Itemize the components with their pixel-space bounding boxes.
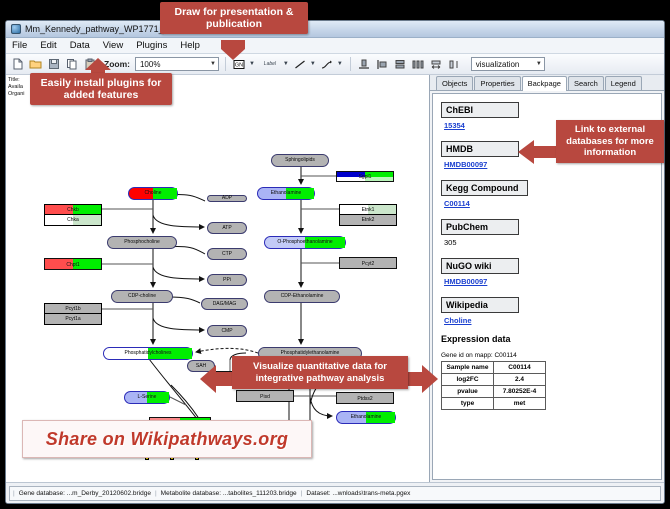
callout-visualize: Visualize quantitative data for integrat… (232, 356, 408, 389)
section-heading-nugo: NuGO wiki (441, 258, 519, 274)
copy-icon[interactable] (64, 57, 79, 72)
svg-text:GN: GN (235, 62, 243, 68)
status-divider-1: | (155, 490, 157, 497)
distribute-icon[interactable] (411, 57, 426, 72)
interaction-chevron-icon[interactable]: ▼ (337, 61, 343, 67)
table-row: log2FC 2.4 (442, 374, 546, 386)
gene-stack-pcyt1[interactable]: Pcyt1b Pcyt1a (44, 303, 102, 325)
gene-chka[interactable]: Chka (45, 215, 101, 225)
callout-visualize-arrow-left (200, 363, 236, 395)
line-icon[interactable] (293, 57, 308, 72)
tab-legend[interactable]: Legend (605, 76, 642, 90)
node-atp[interactable]: ATP (207, 222, 247, 234)
interaction-icon[interactable] (320, 57, 335, 72)
common-width-icon[interactable] (429, 57, 444, 72)
section-heading-wikipedia: Wikipedia (441, 297, 519, 313)
callout-plugins: Easily install plugins for added feature… (30, 73, 172, 105)
tab-properties[interactable]: Properties (474, 76, 520, 90)
open-file-icon[interactable] (28, 57, 43, 72)
link-nugo[interactable]: HMDB00097 (444, 277, 661, 286)
chevron-down-icon-2: ▼ (536, 61, 542, 67)
cell-value: 2.4 (494, 374, 546, 386)
section-heading-chebi: ChEBI (441, 102, 519, 118)
node-phosphocholine[interactable]: Phosphocholine (107, 236, 177, 249)
node-cdp-choline[interactable]: CDP-choline (111, 290, 173, 303)
section-heading-hmdb: HMDB (441, 141, 519, 157)
node-choline-top[interactable]: Choline (128, 187, 178, 200)
gene-sgpl1[interactable]: Sgpl1 (336, 171, 394, 182)
callout-share: Share on Wikipathways.org (22, 420, 312, 458)
status-bar: | Gene database: ...m_Derby_20120602.bri… (6, 482, 664, 503)
menu-plugins[interactable]: Plugins (134, 40, 169, 51)
table-row: Sample name C00114 (442, 362, 546, 374)
callout-link-arrow (518, 139, 560, 165)
value-pubchem: 305 (444, 238, 661, 247)
expression-table: Sample name C00114 log2FC 2.4 pvalue 7.8… (441, 361, 546, 410)
gene-pcyt1a[interactable]: Pcyt1a (45, 314, 101, 324)
zoom-value: 100% (140, 60, 160, 69)
app-icon (11, 24, 21, 34)
status-dataset: Dataset: ...wnloads\trans-meta.pgex (306, 490, 410, 497)
cell-value: met (494, 398, 546, 410)
section-heading-kegg: Kegg Compound (441, 180, 528, 196)
section-heading-pubchem: PubChem (441, 219, 519, 235)
gene-etnk1[interactable]: Etnk1 (340, 205, 396, 215)
node-cmp[interactable]: CMP (207, 325, 247, 337)
toolbar-divider-2 (350, 57, 351, 71)
tab-search[interactable]: Search (568, 76, 604, 90)
cell-key: Sample name (442, 362, 494, 374)
status-bar-inner: | Gene database: ...m_Derby_20120602.bri… (9, 486, 661, 501)
expression-data-title: Expression data (441, 334, 661, 344)
callout-link: Link to external databases for more info… (556, 120, 664, 163)
menu-file[interactable]: File (10, 40, 29, 51)
node-l-serine-left[interactable]: L-Serine (124, 391, 170, 404)
gene-etnk2[interactable]: Etnk2 (340, 215, 396, 225)
status-metabolite-database: Metabolite database: ...tabolites_111203… (161, 490, 297, 497)
cell-key: log2FC (442, 374, 494, 386)
gene-pcyt1b[interactable]: Pcyt1b (45, 304, 101, 314)
line-chevron-icon[interactable]: ▼ (310, 61, 316, 67)
common-height-icon[interactable] (447, 57, 462, 72)
zoom-combo[interactable]: 100% ▼ (135, 57, 219, 71)
callout-draw-arrow (215, 40, 255, 62)
gene-stack-etnk[interactable]: Etnk1 Etnk2 (339, 204, 397, 226)
label-icon[interactable]: Label (259, 57, 281, 72)
node-cdp-ethanolamine[interactable]: CDP-Ethanolamine (264, 290, 340, 303)
tab-objects[interactable]: Objects (436, 76, 473, 90)
gene-chkb[interactable]: Chkb (45, 205, 101, 215)
table-row: type met (442, 398, 546, 410)
cell-key: pvalue (442, 386, 494, 398)
node-ethanolamine-top[interactable]: Ethanolamine (257, 187, 315, 200)
node-o-phosphoethanolamine[interactable]: O-Phosphoethanolamine (264, 236, 346, 249)
status-divider-2: | (301, 490, 303, 497)
gene-pcyt2[interactable]: Pcyt2 (339, 257, 397, 269)
save-file-icon[interactable] (46, 57, 61, 72)
table-row: pvalue 7.80252E-4 (442, 386, 546, 398)
new-file-icon[interactable] (10, 57, 25, 72)
link-kegg[interactable]: C00114 (444, 199, 661, 208)
gene-id-line: Gene id on mapp: C00114 (441, 352, 661, 359)
menu-bar: File Edit Data View Plugins Help (6, 38, 664, 54)
node-dag-mag[interactable]: DAG/MAG (201, 298, 248, 310)
cell-value: 7.80252E-4 (494, 386, 546, 398)
node-ctp[interactable]: CTP (207, 248, 247, 260)
gene-chpt1[interactable]: Chpt1 (44, 258, 102, 270)
menu-view[interactable]: View (101, 40, 125, 51)
node-phosphatidylcholines[interactable]: Phosphatidylcholines (103, 347, 193, 360)
node-sphingolipids[interactable]: Sphingolipids (271, 154, 329, 167)
cell-key: type (442, 398, 494, 410)
cell-value: C00114 (494, 362, 546, 374)
visualization-combo[interactable]: visualization ▼ (471, 57, 545, 71)
stack-icon[interactable] (393, 57, 408, 72)
tab-backpage[interactable]: Backpage (522, 76, 567, 91)
node-adp[interactable]: ADP (207, 195, 247, 202)
label-chevron-icon[interactable]: ▼ (283, 61, 289, 67)
node-ethanolamine-bottom[interactable]: Ethanolamine (336, 411, 396, 424)
status-gene-database: Gene database: ...m_Derby_20120602.bridg… (19, 490, 151, 497)
gene-stack-chk[interactable]: Chkb Chka (44, 204, 102, 226)
gene-ptdss2[interactable]: Ptdss2 (336, 392, 394, 404)
callout-draw: Draw for presentation & publication (160, 2, 308, 34)
menu-help[interactable]: Help (178, 40, 202, 51)
gene-pisd[interactable]: Pisd (236, 390, 294, 402)
status-divider-0: | (13, 490, 15, 497)
callout-visualize-arrow-right (404, 363, 438, 395)
node-ppi[interactable]: PPi (207, 274, 247, 286)
side-panel-tabs: Objects Properties Backpage Search Legen… (430, 75, 664, 91)
menu-edit[interactable]: Edit (38, 40, 58, 51)
align-bottom-icon[interactable] (357, 57, 372, 72)
align-left-icon[interactable] (375, 57, 390, 72)
link-wikipedia[interactable]: Choline (444, 316, 661, 325)
title-bar: Mm_Kennedy_pathway_WP1771_45176.gpml (6, 21, 664, 38)
visualization-value: visualization (476, 60, 520, 69)
menu-data[interactable]: Data (68, 40, 92, 51)
